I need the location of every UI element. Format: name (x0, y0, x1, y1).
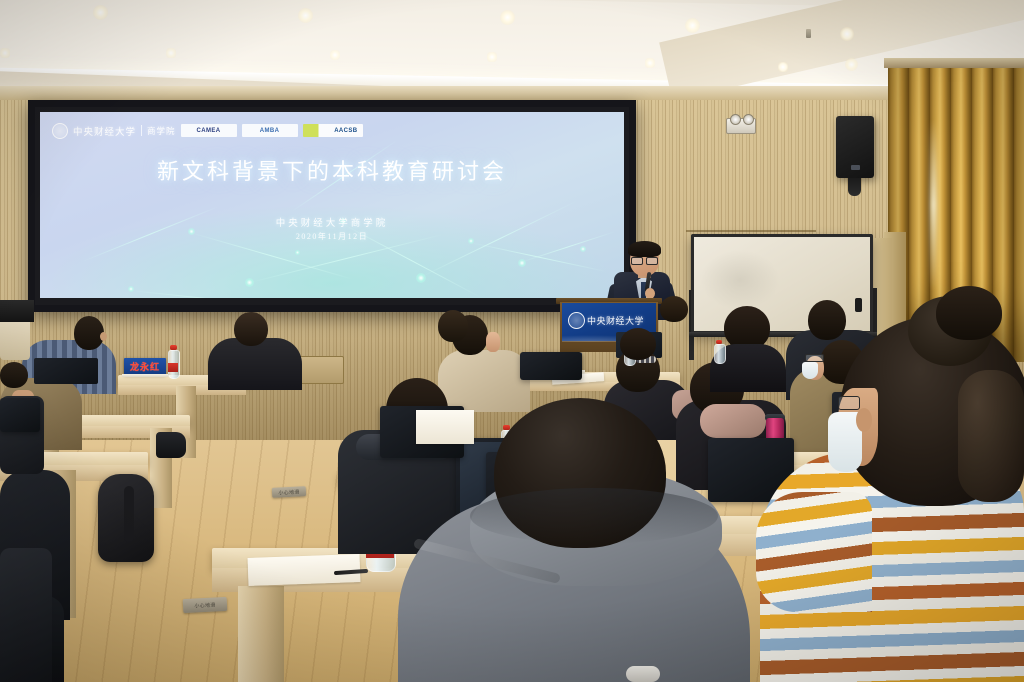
podium-banner-text: 中央财经大学 (587, 314, 644, 327)
downlight-icon (645, 58, 655, 68)
curtain-light-gap (930, 120, 937, 290)
person-plaid-shirt-head (74, 316, 104, 350)
person-scarf-collar (700, 404, 766, 438)
monitor (520, 352, 582, 380)
slide-school-name: 商学院 (147, 125, 176, 137)
accreditation-logo-aacsb: AACSB (303, 124, 363, 137)
downlight-icon (166, 48, 176, 58)
sprinkler-head-icon (806, 29, 811, 38)
backpack-strap (124, 486, 134, 542)
accreditation-logo-amba: AMBA (242, 124, 298, 137)
slide-title: 新文科背景下的本科教育研讨会 (40, 154, 624, 186)
person-plaid-shirt-ear (100, 332, 107, 341)
glasses-icon (838, 396, 860, 410)
downlight-icon (93, 5, 108, 20)
person-khaki-left-head (0, 362, 28, 388)
downlight-icon (778, 62, 788, 72)
person-left-of-podium-head (620, 328, 656, 360)
monitor (34, 358, 98, 384)
floor-plate-center-text: 小心地滑 (278, 488, 300, 496)
person-beige-coat-torso (438, 350, 530, 412)
person-striped-sweater-arm (756, 492, 872, 612)
water-bottle (167, 345, 179, 377)
face-mask (802, 362, 818, 379)
floor-plate-left: 小心地滑 (183, 597, 228, 613)
whiteboard-latch (855, 298, 862, 312)
person-behind-beige-head (438, 310, 468, 342)
person-dark-jacket-back-left-torso (208, 338, 302, 390)
conference-room-photo: 中央财经大学 商学院 CAMEA AMBA AACSB 新文科背景下的本科教育研… (0, 0, 1024, 682)
presenter-glasses-icon (631, 257, 658, 263)
downlight-icon (298, 8, 313, 23)
slide-subtitle-organization: 中央财经大学商学院 (40, 215, 624, 229)
chair-back-foreground-left (0, 548, 52, 682)
downlight-icon (330, 50, 340, 60)
slide-logo-bar: 中央财经大学 商学院 CAMEA AMBA AACSB (52, 122, 512, 139)
emergency-light (726, 118, 756, 134)
downlight-icon (840, 27, 854, 41)
downlight-icon (487, 52, 497, 62)
wall-vent-panel (296, 356, 344, 384)
person-far-right-head (660, 296, 688, 322)
whiteboard-erased-marks (700, 250, 780, 310)
person-dark-blazer-right-head (808, 300, 846, 340)
slide-logo-divider (141, 125, 142, 136)
floor-plate-left-text: 小心地滑 (194, 601, 216, 609)
papers (416, 410, 474, 444)
downlight-icon (845, 58, 858, 71)
water-bottle (714, 340, 725, 362)
person-beige-coat-face (486, 332, 500, 352)
picture-frame-left-wall (0, 300, 34, 322)
nameplate-left: 龙永红 (124, 358, 166, 375)
person-gray-hoodie-collar-tag (626, 666, 660, 682)
nameplate-left-base (122, 374, 168, 377)
person-striped-sweater-ear (856, 408, 872, 432)
accreditation-logo-camea: CAMEA (181, 124, 237, 137)
person-striped-sweater-hair-strand (958, 370, 1024, 502)
slide-subtitle-date: 2020年11月12日 (40, 231, 624, 242)
person-gray-hoodie-hood-shadow (470, 488, 718, 544)
floor-plate-center: 小心地滑 (272, 486, 306, 498)
podium-seal-icon (568, 312, 585, 329)
nameplate-left-text: 龙永红 (130, 360, 160, 373)
downlight-icon (685, 18, 700, 33)
person-shoe-under-desk (156, 432, 186, 458)
wall-top-trim (0, 86, 1024, 100)
downlight-icon (0, 48, 10, 58)
monitor (0, 398, 40, 432)
glasses-icon (805, 354, 824, 362)
downlight-icon (500, 10, 515, 25)
desk-leg (238, 586, 284, 682)
person-behind-striped-head (936, 286, 1002, 340)
person-dark-jacket-head (234, 312, 268, 346)
loudspeaker-badge (851, 165, 860, 170)
slide-university-name: 中央财经大学 (73, 124, 136, 138)
university-seal-icon (52, 123, 68, 139)
loudspeaker-mount (848, 178, 861, 196)
curtain-rod (884, 58, 1024, 68)
presenter-hair (628, 241, 661, 257)
wall-trim-line (686, 230, 816, 232)
